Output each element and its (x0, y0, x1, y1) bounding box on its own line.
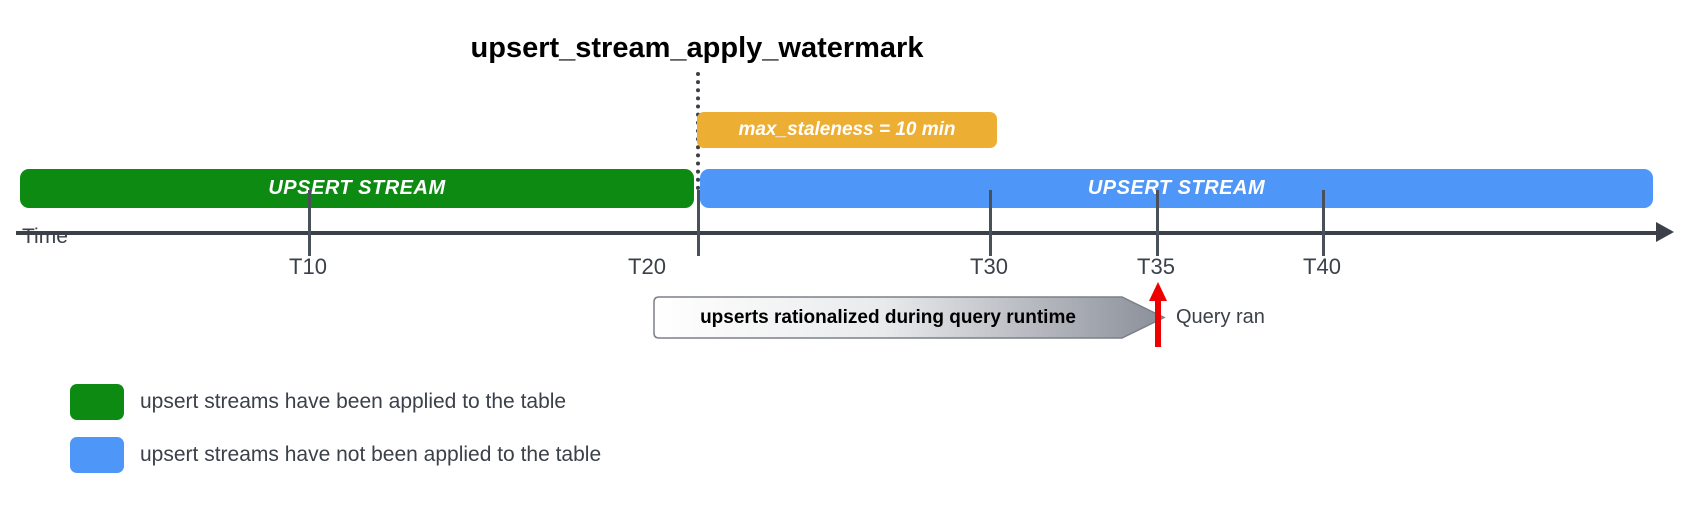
tick-mark-t10 (308, 190, 311, 256)
tick-mark-t30 (989, 190, 992, 256)
max-staleness-badge: max_staleness = 10 min (697, 112, 997, 148)
bar-unapplied-upsert-stream: UPSERT STREAM (700, 169, 1653, 208)
rationalization-arrow-label: upserts rationalized during query runtim… (648, 296, 1128, 339)
tick-mark-t35 (1156, 190, 1159, 256)
query-ran-label: Query ran (1176, 306, 1265, 329)
legend-swatch-green (70, 384, 124, 420)
tick-label-t35: T35 (1137, 254, 1175, 280)
time-axis-line (16, 231, 1664, 235)
tick-mark-t40 (1322, 190, 1325, 256)
bar-applied-upsert-stream: UPSERT STREAM (20, 169, 694, 208)
tick-label-t10: T10 (289, 254, 327, 280)
query-ran-red-arrow-icon (1148, 281, 1168, 347)
legend-swatch-blue (70, 437, 124, 473)
tick-label-t30: T30 (970, 254, 1008, 280)
time-axis-label: Time (22, 225, 68, 249)
time-axis-arrow-icon (1656, 222, 1674, 242)
timeline-diagram: upsert_stream_apply_watermark max_stalen… (0, 0, 1696, 530)
legend-label-not-applied: upsert streams have not been applied to … (140, 437, 601, 473)
page-title: upsert_stream_apply_watermark (0, 32, 1394, 65)
tick-label-t20: T20 (628, 254, 666, 280)
tick-mark-t20 (697, 190, 700, 256)
legend-label-applied: upsert streams have been applied to the … (140, 384, 566, 420)
tick-label-t40: T40 (1303, 254, 1341, 280)
rationalization-arrow-banner: upserts rationalized during query runtim… (648, 296, 1166, 339)
